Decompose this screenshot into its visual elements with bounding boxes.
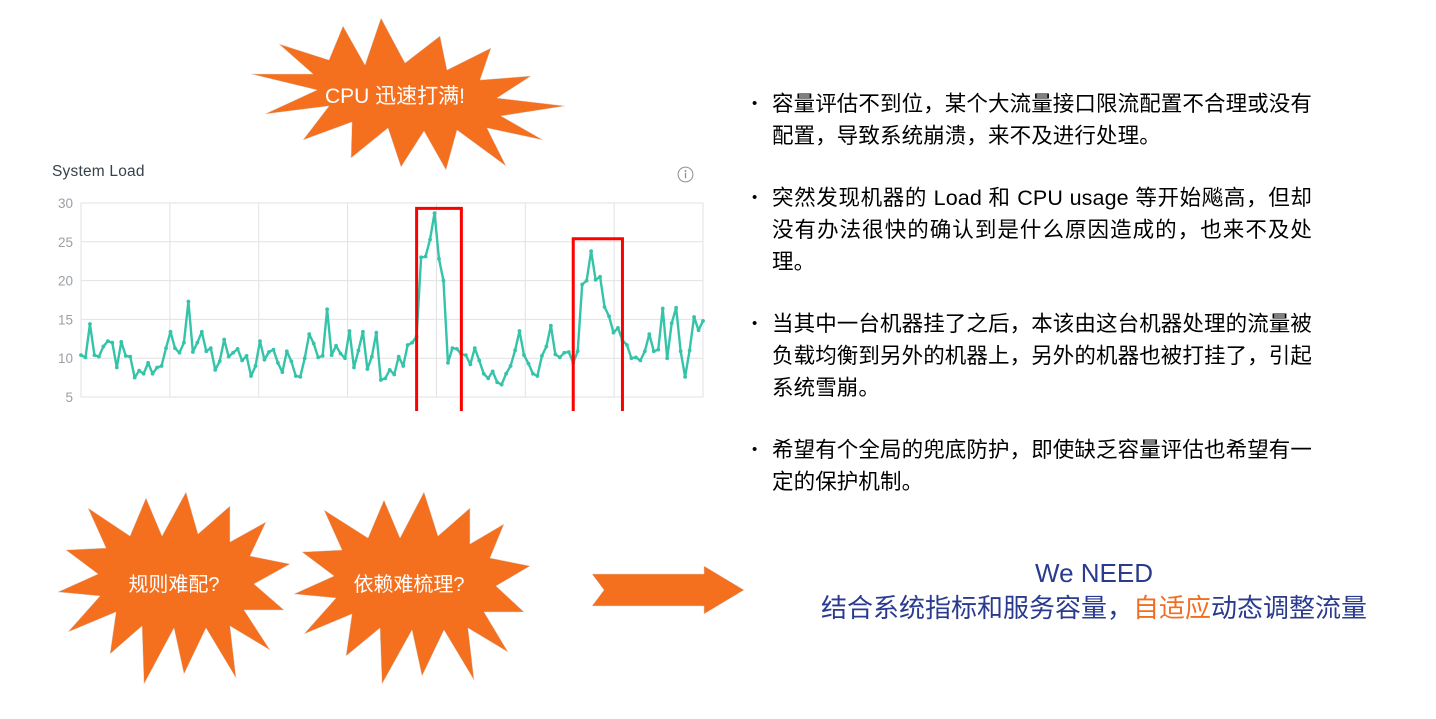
series-point bbox=[218, 359, 222, 363]
slide-canvas: CPU 迅速打满! System Load 51015202530 • 容量评估… bbox=[0, 0, 1436, 719]
series-point bbox=[339, 352, 343, 356]
series-point bbox=[513, 349, 517, 353]
series-point bbox=[101, 345, 105, 349]
series-point bbox=[298, 375, 302, 379]
series-point bbox=[580, 283, 584, 287]
series-point bbox=[522, 353, 526, 357]
list-item: • 当其中一台机器挂了之后，本该由这台机器处理的流量被负载均衡到另外的机器上，另… bbox=[752, 308, 1312, 404]
series-point bbox=[567, 350, 571, 354]
series-point bbox=[79, 353, 83, 357]
need-title: We NEED bbox=[756, 556, 1432, 590]
series-point bbox=[397, 355, 401, 359]
series-point bbox=[473, 346, 477, 350]
series-point bbox=[598, 275, 602, 279]
series-point bbox=[155, 366, 159, 370]
y-axis-tick-label: 20 bbox=[58, 274, 73, 289]
system-load-chart-card: System Load 51015202530 bbox=[46, 163, 718, 431]
starburst-dependency: 依赖难梳理? bbox=[288, 492, 530, 684]
series-point bbox=[84, 356, 88, 360]
series-point bbox=[93, 353, 97, 357]
series-point bbox=[312, 342, 316, 346]
series-point bbox=[589, 249, 593, 253]
series-point bbox=[647, 332, 651, 336]
need-sub-part1: 结合系统指标和服务容量， bbox=[821, 593, 1133, 623]
series-point bbox=[603, 305, 607, 309]
series-point bbox=[674, 306, 678, 310]
series-point bbox=[477, 359, 481, 363]
series-point bbox=[630, 356, 634, 360]
series-point bbox=[276, 361, 280, 365]
series-point bbox=[343, 356, 347, 360]
series-point bbox=[115, 366, 119, 370]
series-point bbox=[562, 351, 566, 355]
series-point bbox=[406, 343, 410, 347]
series-point bbox=[240, 359, 244, 363]
series-point bbox=[527, 362, 531, 366]
series-point bbox=[321, 354, 325, 358]
series-point bbox=[200, 330, 204, 334]
series-point bbox=[612, 331, 616, 335]
series-point bbox=[531, 372, 535, 376]
series-point bbox=[213, 368, 217, 372]
bullet-marker: • bbox=[752, 308, 772, 340]
series-point bbox=[119, 340, 123, 344]
bullet-marker: • bbox=[752, 182, 772, 214]
series-point bbox=[419, 255, 423, 259]
y-axis-tick-label: 10 bbox=[58, 351, 73, 366]
series-point bbox=[379, 378, 383, 382]
series-point bbox=[504, 372, 508, 376]
conclusion-block: We NEED 结合系统指标和服务容量，自适应动态调整流量 bbox=[756, 556, 1432, 626]
series-point bbox=[433, 211, 437, 215]
series-point bbox=[468, 363, 472, 367]
line-chart-svg: 51015202530 bbox=[46, 197, 718, 431]
series-point bbox=[280, 370, 284, 374]
bullet-text: 当其中一台机器挂了之后，本该由这台机器处理的流量被负载均衡到另外的机器上，另外的… bbox=[772, 308, 1312, 404]
series-point bbox=[267, 350, 271, 354]
series-point bbox=[670, 321, 674, 325]
series-point bbox=[509, 364, 513, 368]
series-point bbox=[692, 315, 696, 319]
series-point bbox=[437, 257, 441, 261]
series-point bbox=[142, 372, 146, 376]
series-point bbox=[540, 354, 544, 358]
series-point bbox=[124, 354, 128, 358]
starburst-cpu: CPU 迅速打满! bbox=[225, 18, 565, 170]
starburst-rule: 规则难配? bbox=[58, 492, 290, 684]
series-point bbox=[285, 349, 289, 353]
chart-plot-area: 51015202530 bbox=[46, 197, 718, 431]
series-point bbox=[151, 372, 155, 376]
need-sub-part2: 动态调整流量 bbox=[1211, 593, 1367, 623]
right-arrow-icon bbox=[592, 566, 744, 614]
series-point bbox=[357, 349, 361, 353]
series-point bbox=[544, 345, 548, 349]
series-point bbox=[254, 364, 258, 368]
series-point bbox=[652, 349, 656, 353]
series-point bbox=[365, 367, 369, 371]
series-point bbox=[222, 338, 226, 342]
series-point bbox=[585, 279, 589, 283]
y-axis-tick-label: 5 bbox=[65, 390, 73, 405]
series-point bbox=[330, 353, 334, 357]
series-point bbox=[401, 364, 405, 368]
series-point bbox=[128, 355, 132, 359]
series-point bbox=[245, 354, 249, 358]
series-point bbox=[638, 359, 642, 363]
series-point bbox=[209, 346, 213, 350]
series-point bbox=[133, 376, 137, 380]
y-axis-tick-label: 15 bbox=[58, 312, 73, 327]
series-point bbox=[325, 307, 329, 311]
series-point bbox=[169, 330, 173, 334]
series-point bbox=[195, 341, 199, 345]
series-point bbox=[204, 349, 208, 353]
list-item: • 容量评估不到位，某个大流量接口限流配置不合理或没有配置，导致系统崩溃，来不及… bbox=[752, 88, 1312, 152]
series-point bbox=[173, 346, 177, 350]
series-point bbox=[553, 352, 557, 356]
bullet-marker: • bbox=[752, 88, 772, 120]
series-point bbox=[236, 347, 240, 351]
series-point bbox=[307, 332, 311, 336]
series-point bbox=[334, 344, 338, 348]
series-point bbox=[191, 350, 195, 354]
series-point bbox=[370, 355, 374, 359]
series-point bbox=[665, 356, 669, 360]
bullet-marker: • bbox=[752, 434, 772, 466]
series-point bbox=[263, 358, 267, 362]
series-point bbox=[227, 355, 231, 359]
starburst-dependency-shape bbox=[288, 492, 530, 684]
y-axis-tick-label: 30 bbox=[58, 197, 73, 211]
series-point bbox=[701, 319, 705, 323]
series-point bbox=[643, 349, 647, 353]
series-point bbox=[231, 351, 235, 355]
series-point bbox=[110, 341, 114, 345]
series-point bbox=[446, 361, 450, 365]
series-point bbox=[486, 376, 490, 380]
series-point bbox=[182, 341, 186, 345]
list-item: • 希望有个全局的兜底防护，即使缺乏容量评估也希望有一定的保护机制。 bbox=[752, 434, 1312, 498]
series-point bbox=[374, 331, 378, 335]
series-point bbox=[576, 349, 580, 353]
bullet-text: 希望有个全局的兜底防护，即使缺乏容量评估也希望有一定的保护机制。 bbox=[772, 434, 1312, 498]
bullet-text: 容量评估不到位，某个大流量接口限流配置不合理或没有配置，导致系统崩溃，来不及进行… bbox=[772, 88, 1312, 152]
series-point bbox=[164, 346, 168, 350]
list-item: • 突然发现机器的 Load 和 CPU usage 等开始飚高，但却没有办法很… bbox=[752, 182, 1312, 278]
series-point bbox=[451, 346, 455, 350]
series-point bbox=[558, 356, 562, 360]
series-point bbox=[697, 328, 701, 332]
series-point bbox=[383, 376, 387, 380]
series-point bbox=[536, 374, 540, 378]
series-point bbox=[495, 380, 499, 384]
series-point bbox=[679, 349, 683, 353]
y-axis-tick-label: 25 bbox=[58, 235, 73, 250]
series-point bbox=[683, 375, 687, 379]
series-point bbox=[392, 373, 396, 377]
series-point bbox=[464, 353, 468, 357]
series-point bbox=[625, 343, 629, 347]
series-point bbox=[289, 359, 293, 363]
series-point bbox=[518, 329, 522, 333]
series-point bbox=[634, 356, 638, 360]
series-point bbox=[106, 339, 110, 343]
series-point bbox=[160, 364, 164, 368]
series-point bbox=[656, 348, 660, 352]
series-point bbox=[594, 278, 598, 282]
info-circle-icon[interactable] bbox=[677, 166, 694, 183]
series-point bbox=[303, 356, 307, 360]
series-point bbox=[549, 324, 553, 328]
series-point bbox=[616, 326, 620, 330]
series-point bbox=[428, 238, 432, 242]
series-point bbox=[97, 355, 101, 359]
chart-title: System Load bbox=[52, 163, 145, 181]
need-subtitle: 结合系统指标和服务容量，自适应动态调整流量 bbox=[756, 590, 1432, 626]
need-sub-highlight: 自适应 bbox=[1133, 593, 1211, 623]
series-point bbox=[272, 348, 276, 352]
series-point bbox=[294, 374, 298, 378]
series-point bbox=[482, 372, 486, 376]
starburst-rule-shape bbox=[58, 492, 290, 684]
series-point bbox=[352, 366, 356, 370]
starburst-cpu-shape bbox=[225, 18, 565, 170]
series-point bbox=[361, 330, 365, 334]
series-point bbox=[442, 279, 446, 283]
series-point bbox=[88, 322, 92, 326]
series-point bbox=[410, 341, 414, 345]
series-point bbox=[661, 307, 665, 311]
series-point bbox=[146, 361, 150, 365]
series-point bbox=[607, 314, 611, 318]
series-point bbox=[187, 300, 191, 304]
series-point bbox=[491, 369, 495, 373]
bullet-text: 突然发现机器的 Load 和 CPU usage 等开始飚高，但却没有办法很快的… bbox=[772, 182, 1312, 278]
spike-highlight-1 bbox=[417, 208, 462, 411]
series-point bbox=[388, 368, 392, 372]
series-point bbox=[500, 383, 504, 387]
series-point bbox=[455, 347, 459, 351]
series-point bbox=[249, 374, 253, 378]
series-point bbox=[688, 349, 692, 353]
series-point bbox=[258, 339, 262, 343]
series-point bbox=[316, 356, 320, 360]
series-point bbox=[348, 329, 352, 333]
issue-bullet-list: • 容量评估不到位，某个大流量接口限流配置不合理或没有配置，导致系统崩溃，来不及… bbox=[752, 88, 1312, 528]
series-point bbox=[424, 255, 428, 259]
series-point bbox=[137, 369, 141, 373]
series-point bbox=[178, 351, 182, 355]
